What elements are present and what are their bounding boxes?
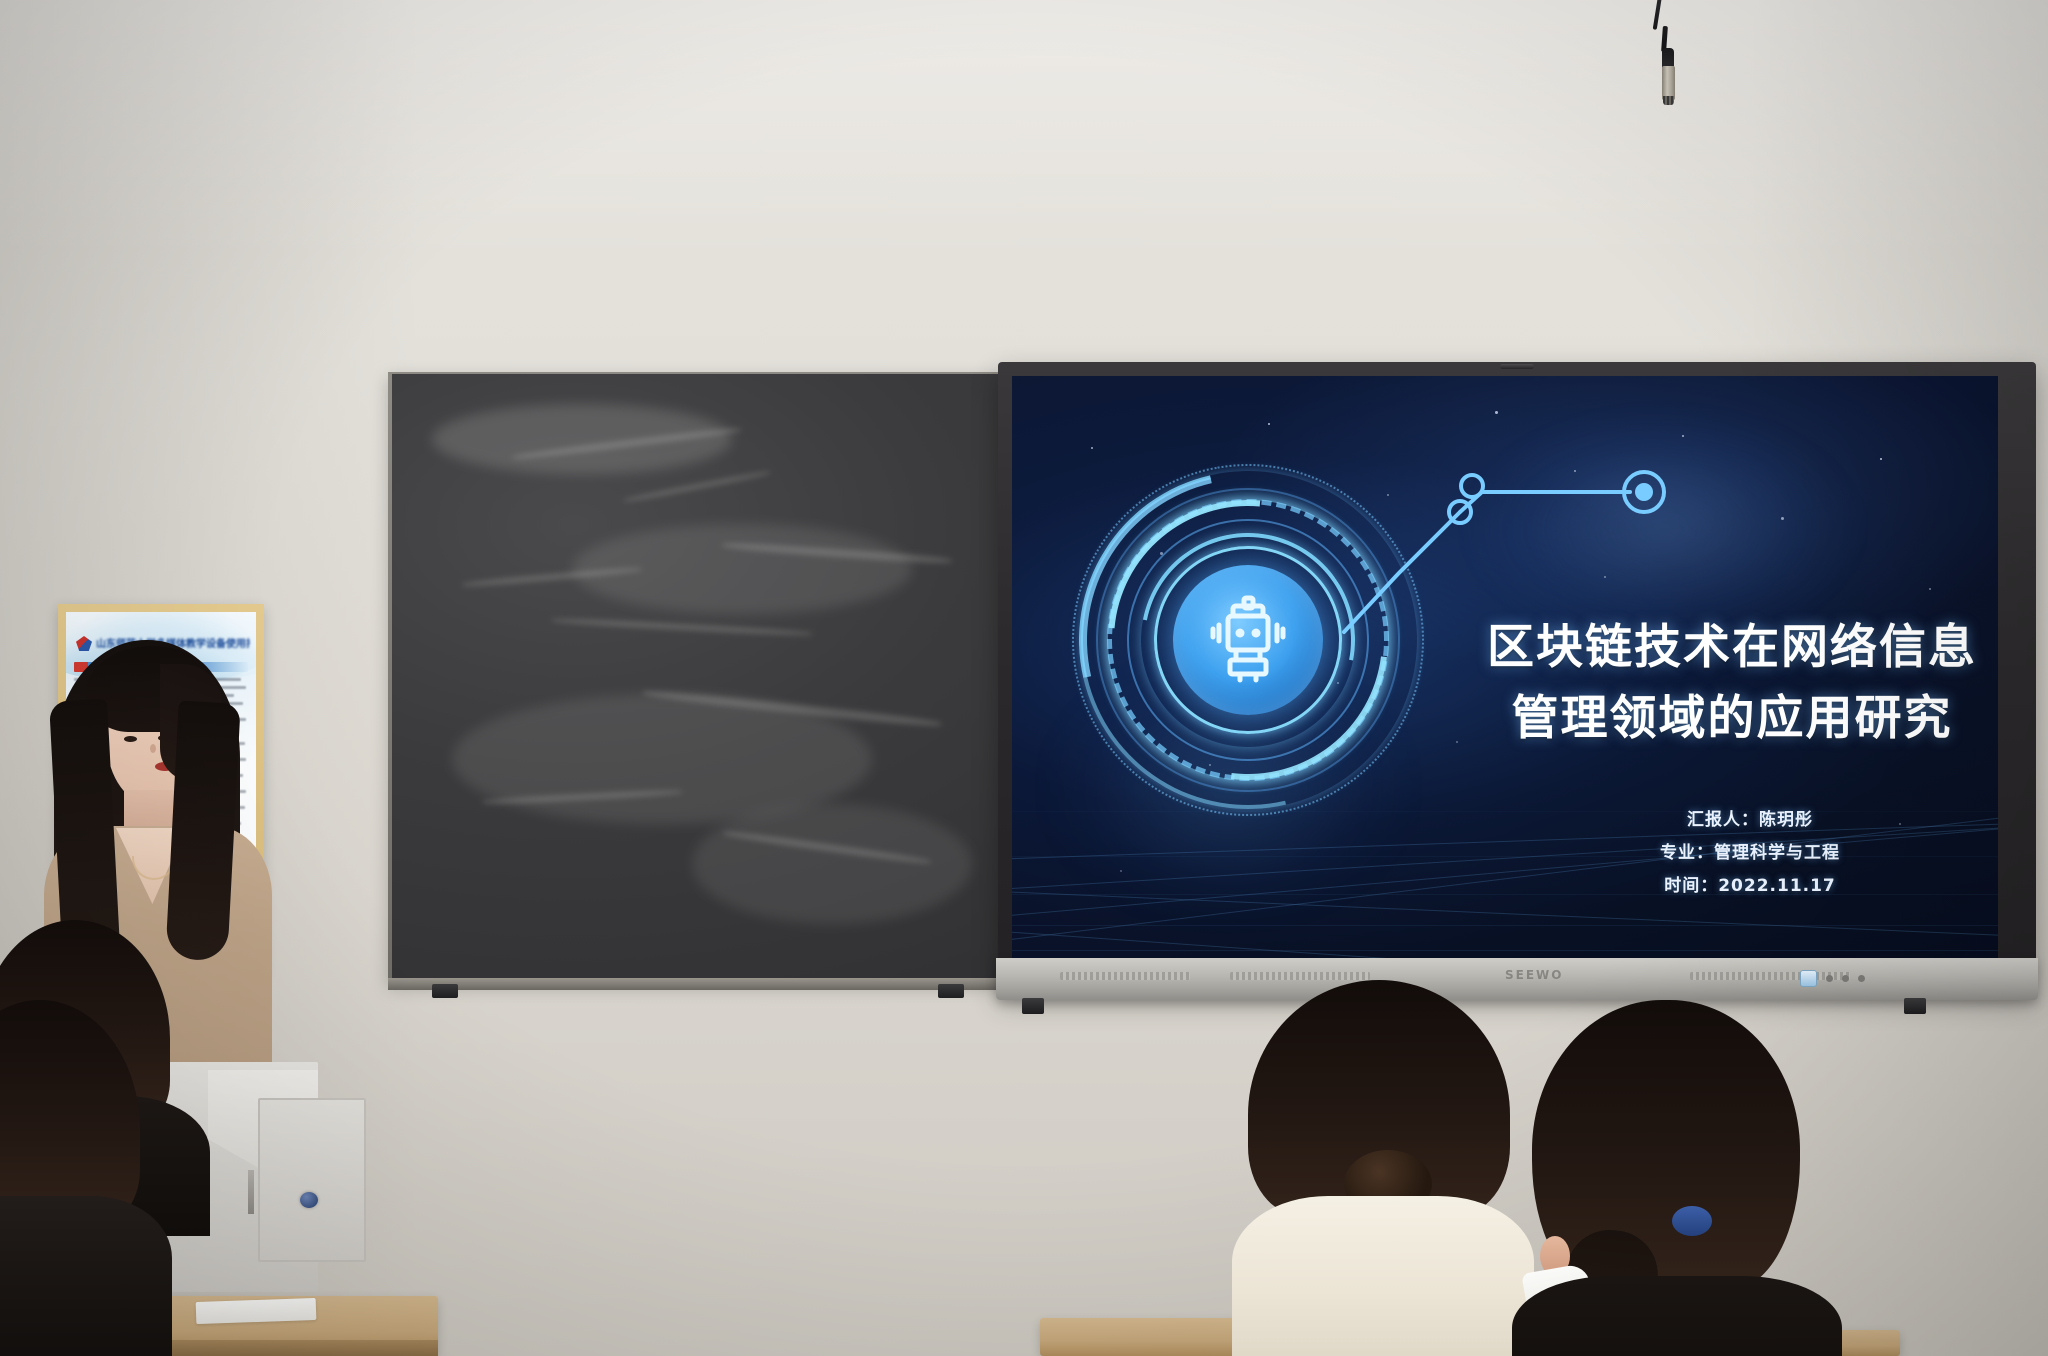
student-center-sweater [1232,1196,1534,1356]
blackboard [392,374,998,978]
control-dot-3[interactable] [1858,975,1865,982]
slide-presenter-line: 汇报人：陈玥彤 [1540,804,1960,837]
student-front-left [0,1000,190,1356]
network-node-link-graphic [1342,446,1742,636]
chalk-rail [388,978,1002,990]
control-dot-1[interactable] [1826,975,1833,982]
power-button-icon[interactable] [1800,970,1817,987]
microphone-body [1662,66,1675,100]
board-mount-left [432,984,458,998]
presentation-screen[interactable]: 区块链技术在网络信息 管理领域的应用研究 汇报人：陈玥彤 专业：管理科学与工程 … [1012,376,1998,964]
presenter-nose [150,744,156,753]
speaker-vent-left-2 [1230,972,1370,980]
slide-major-line: 专业：管理科学与工程 [1540,837,1960,870]
wall-mount-bracket-right [1904,998,1926,1014]
board-mount-right [938,984,964,998]
student-center-bun [1248,980,1548,1356]
student-front-left-top [0,1196,172,1356]
student-right-ponytail [1532,1000,1862,1356]
wall-mount-bracket-left [1022,998,1044,1014]
lectern-knob[interactable] [300,1192,318,1208]
speaker-vent-left [1060,972,1190,980]
lectern-control-panel[interactable] [258,1098,366,1262]
student-right-hair-band [1672,1206,1712,1236]
control-dot-2[interactable] [1842,975,1849,982]
slide-title-line-1: 区块链技术在网络信息 [1472,612,1992,683]
lectern-stem [248,1170,254,1214]
student-right-top [1512,1276,1842,1356]
display-camera-icon [1500,364,1534,369]
slide-date-line: 时间：2022.11.17 [1540,870,1960,903]
slide-title: 区块链技术在网络信息 管理领域的应用研究 [1472,612,1992,755]
display-control-buttons[interactable] [1800,970,1865,987]
robot-icon [1200,592,1296,688]
presenter-eye-left [124,736,137,742]
classroom-photo-scene: 区块链技术在网络信息 管理领域的应用研究 汇报人：陈玥彤 专业：管理科学与工程 … [0,0,2048,1356]
microphone-grill-icon [1663,96,1674,105]
slide-metadata: 汇报人：陈玥彤 专业：管理科学与工程 时间：2022.11.17 [1540,804,1960,903]
student-right-hair [1532,1000,1800,1290]
slide-title-line-2: 管理领域的应用研究 [1472,683,1992,754]
